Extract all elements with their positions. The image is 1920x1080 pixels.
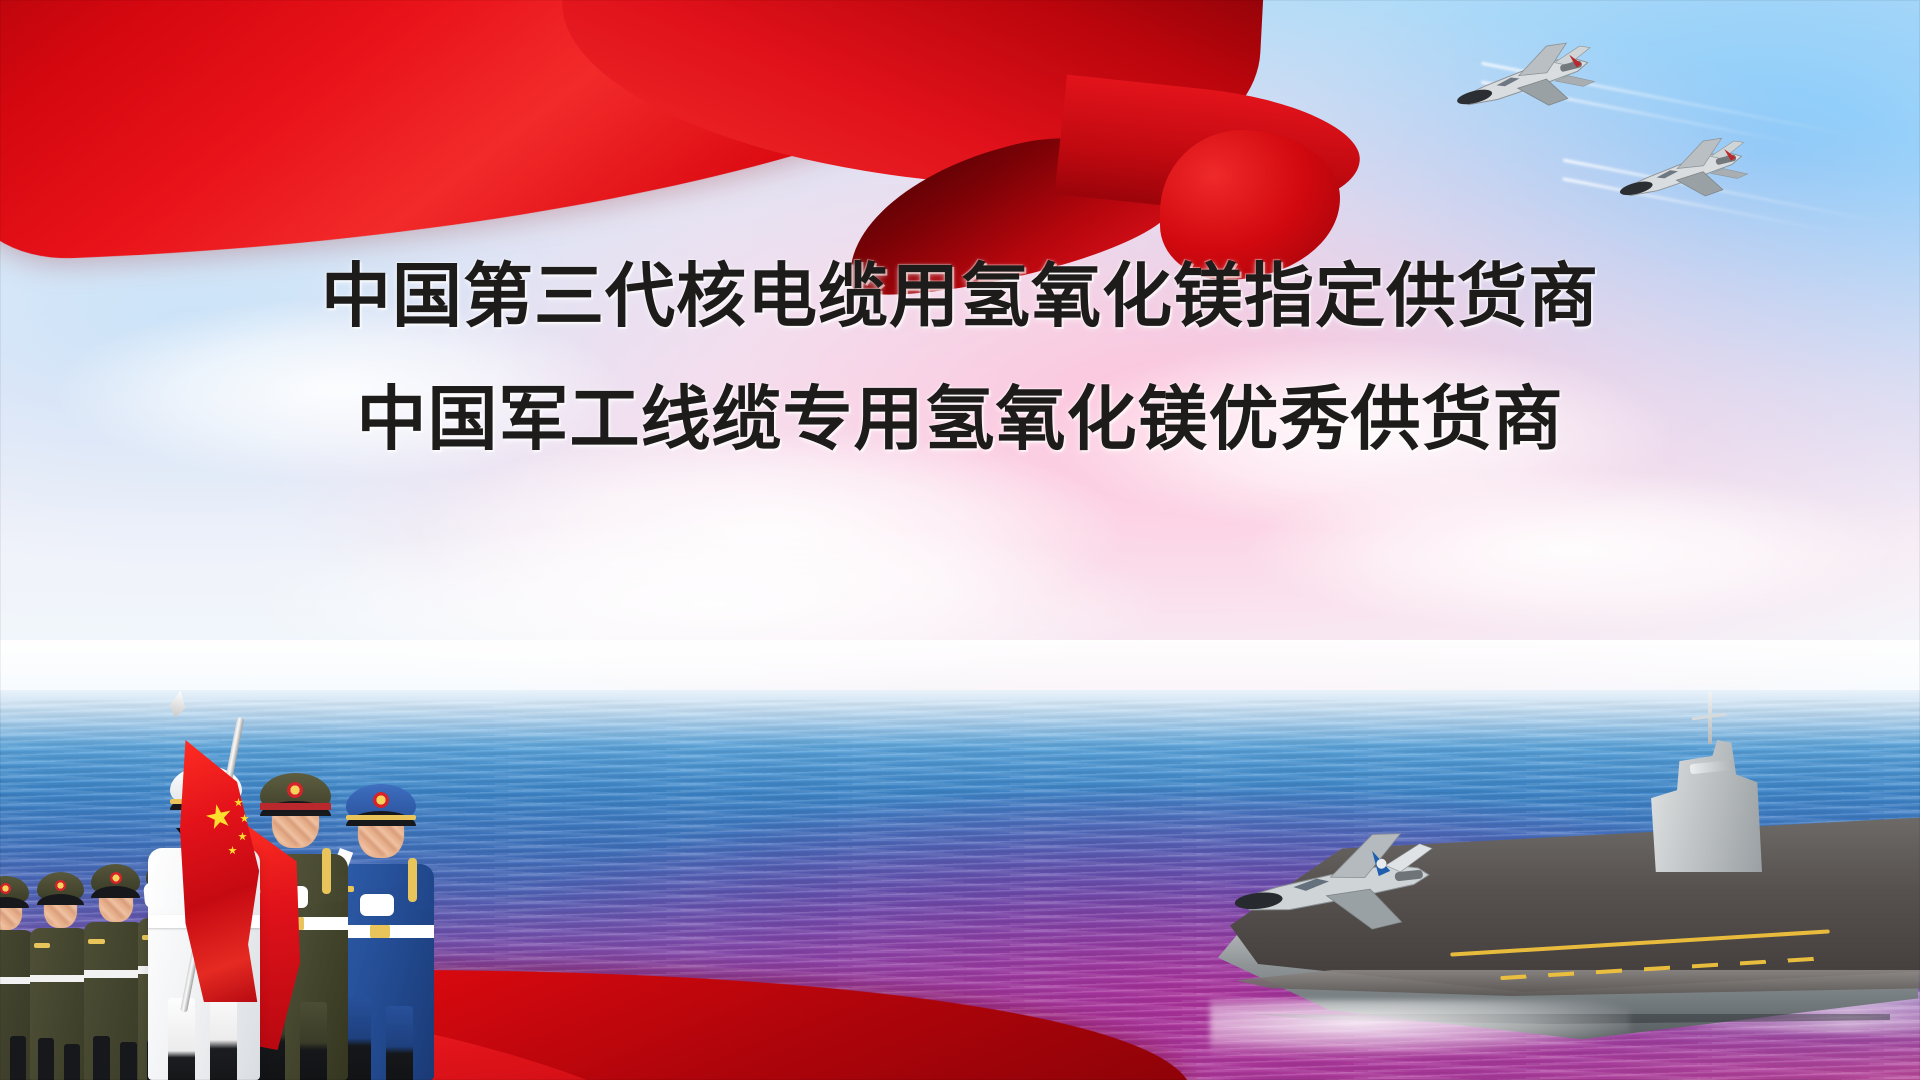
headline-block: 中国第三代核电缆用氢氧化镁指定供货商 中国军工线缆专用氢氧化镁优秀供货商 bbox=[0, 248, 1920, 467]
promotional-banner: 中国第三代核电缆用氢氧化镁指定供货商 中国军工线缆专用氢氧化镁优秀供货商 bbox=[0, 0, 1920, 1080]
headline-line-1: 中国第三代核电缆用氢氧化镁指定供货商 bbox=[0, 248, 1920, 345]
honor-guard-group bbox=[0, 660, 500, 1080]
flag-pole-tip bbox=[167, 689, 188, 720]
bow-wave bbox=[1210, 1000, 1630, 1056]
carrier-island-superstructure bbox=[1644, 740, 1762, 872]
national-flag-held bbox=[158, 758, 254, 1008]
carrier-based-jet-icon bbox=[1223, 822, 1444, 958]
headline-line-2: 中国军工线缆专用氢氧化镁优秀供货商 bbox=[0, 371, 1920, 468]
aircraft-carrier bbox=[1200, 620, 1920, 1040]
